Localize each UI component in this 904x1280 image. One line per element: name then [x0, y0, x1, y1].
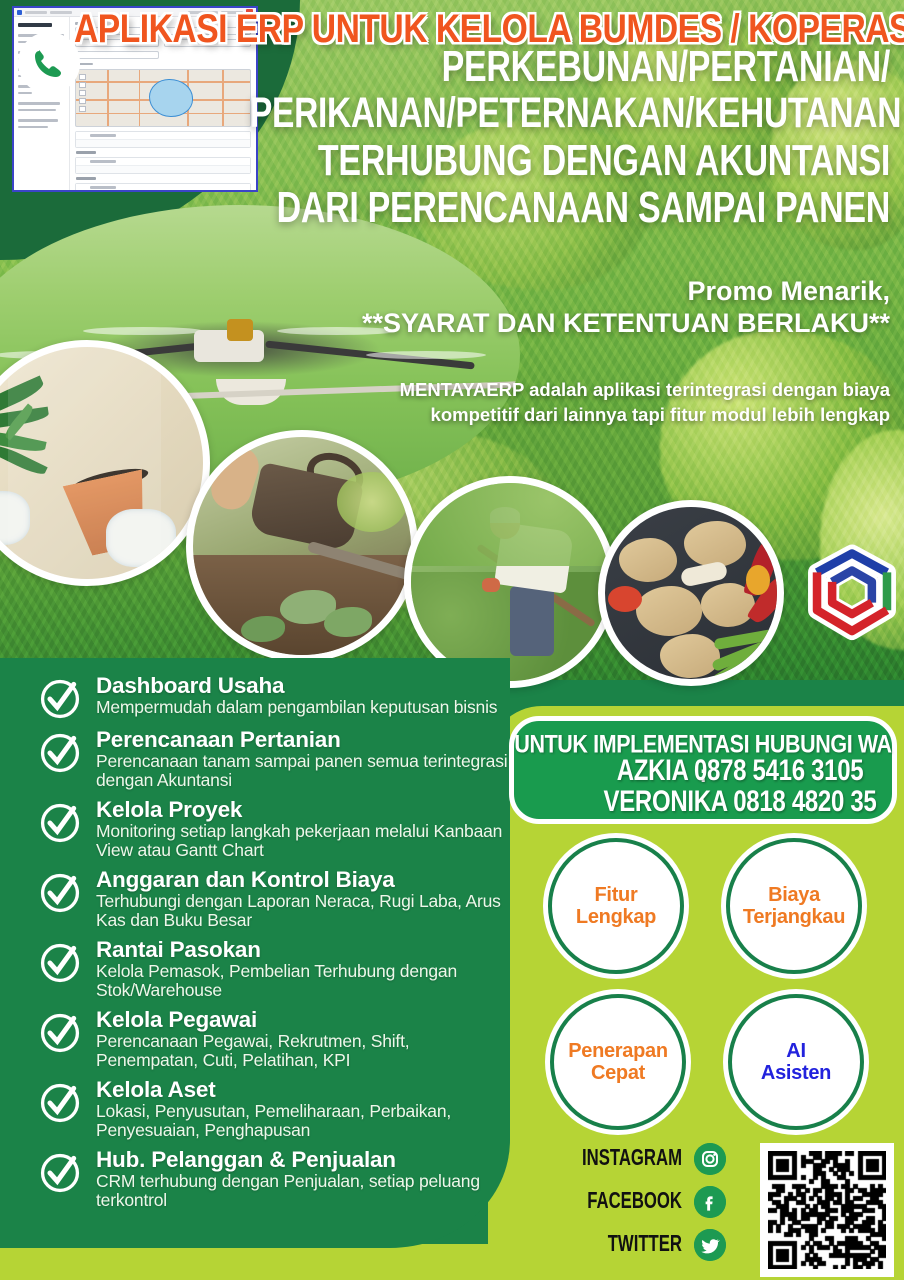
check-circle-icon: [38, 677, 82, 721]
social-label: FACEBOOK: [575, 1189, 682, 1216]
feature-desc: Terhubungi dengan Laporan Neraca, Rugi L…: [96, 892, 508, 932]
breadcrumb: [50, 11, 72, 14]
badge-line-2: Terjangkau: [743, 906, 845, 928]
badge-line-2: Cepat: [591, 1062, 645, 1084]
feature-title: Hub. Pelanggan & Penjualan: [96, 1147, 396, 1172]
check-circle-icon: [38, 871, 82, 915]
feature-title: Dashboard Usaha: [96, 673, 284, 698]
map-polygon: [149, 79, 193, 117]
badge-biaya-terjangkau[interactable]: Biaya Terjangkau: [726, 838, 862, 974]
check-circle-icon: [38, 1151, 82, 1195]
headline-line-3: TERHUBUNG DENGAN AKUNTANSI: [250, 139, 890, 183]
feature-desc: Kelola Pemasok, Pembelian Terhubung deng…: [96, 962, 508, 1002]
facebook-icon[interactable]: [694, 1186, 726, 1218]
list-item: Hub. Pelanggan & Penjualan CRM terhubung…: [38, 1146, 508, 1212]
contact-veronika[interactable]: VERONIKA 0818 4820 35: [602, 788, 878, 818]
photo-watering-can: [186, 430, 418, 662]
map-controls[interactable]: [79, 74, 86, 114]
social-label: INSTAGRAM: [575, 1146, 682, 1173]
phone-icon: [18, 32, 80, 94]
feature-desc: Monitoring setiap langkah pekerjaan mela…: [96, 822, 508, 862]
list-item: Perencanaan Pertanian Perencanaan tanam …: [38, 726, 508, 792]
contact-numbers: AZKIA 0878 5416 3105 VERONIKA 0818 4820 …: [602, 757, 878, 819]
check-circle-icon: [38, 941, 82, 985]
list-item: Kelola Aset Lokasi, Penyusutan, Pemeliha…: [38, 1076, 508, 1142]
feature-title: Perencanaan Pertanian: [96, 727, 341, 752]
promo-line-1: Promo Menarik,: [250, 276, 890, 308]
poster-root: APLIKASI ERP UNTUK KELOLA BUMDES / KOPER…: [0, 0, 904, 1280]
twitter-icon[interactable]: [694, 1229, 726, 1261]
headline-line-4: DARI PERENCANAAN SAMPAI PANEN: [250, 186, 890, 230]
social-row-instagram[interactable]: INSTAGRAM: [560, 1140, 750, 1178]
list-item: Kelola Pegawai Perencanaan Pegawai, Rekr…: [38, 1006, 508, 1072]
badge-line-2: Asisten: [761, 1062, 831, 1084]
badge-line-2: Lengkap: [576, 906, 656, 928]
list-item: Dashboard Usaha Mempermudah dalam pengam…: [38, 672, 508, 721]
badge-penerapan-cepat[interactable]: Penerapan Cepat: [550, 994, 686, 1130]
photo-farmer-hoeing: [404, 476, 616, 688]
feature-title: Anggaran dan Kontrol Biaya: [96, 867, 395, 892]
feature-title: Rantai Pasokan: [96, 937, 261, 962]
contact-azkia[interactable]: AZKIA 0878 5416 3105: [602, 757, 878, 787]
breadcrumb: [25, 11, 47, 14]
feature-title: Kelola Aset: [96, 1077, 216, 1102]
list-item: Rantai Pasokan Kelola Pemasok, Pembelian…: [38, 936, 508, 1002]
headline-line-1: PERKEBUNAN/PERTANIAN/: [250, 45, 890, 89]
feature-desc: Mempermudah dalam pengambilan keputusan …: [96, 698, 508, 718]
social-row-facebook[interactable]: FACEBOOK: [560, 1183, 750, 1221]
feature-desc: CRM terhubung dengan Penjualan, setiap p…: [96, 1172, 508, 1212]
feature-title: Kelola Pegawai: [96, 1007, 257, 1032]
product-blurb: MENTAYAERP adalah aplikasi terintegrasi …: [330, 378, 890, 427]
badge-line-1: Biaya: [768, 884, 820, 906]
headline-white: PERKEBUNAN/PERTANIAN/ PERIKANAN/PETERNAK…: [250, 50, 890, 238]
app-logo-icon: [17, 10, 22, 15]
check-circle-icon: [38, 731, 82, 775]
mentayaerp-hexagon-logo: [800, 540, 904, 654]
badge-line-1: AI: [786, 1040, 805, 1062]
photo-vegetables: [598, 500, 784, 686]
badge-fitur-lengkap[interactable]: Fitur Lengkap: [548, 838, 684, 974]
badge-line-1: Fitur: [595, 884, 638, 906]
map-widget[interactable]: [75, 69, 251, 127]
badge-line-1: Penerapan: [568, 1040, 668, 1062]
feature-desc: Perencanaan Pegawai, Rekrutmen, Shift, P…: [96, 1032, 508, 1072]
badge-ai-asisten[interactable]: AI Asisten: [728, 994, 864, 1130]
list-item: Anggaran dan Kontrol Biaya Terhubungi de…: [38, 866, 508, 932]
social-links: INSTAGRAM FACEBOOK TWITTER: [560, 1140, 750, 1269]
instagram-icon[interactable]: [694, 1143, 726, 1175]
feature-desc: Lokasi, Penyusutan, Pemeliharaan, Perbai…: [96, 1102, 508, 1142]
feature-desc: Perencanaan tanam sampai panen semua ter…: [96, 752, 508, 792]
check-circle-icon: [38, 801, 82, 845]
list-item: Kelola Proyek Monitoring setiap langkah …: [38, 796, 508, 862]
social-row-twitter[interactable]: TWITTER: [560, 1226, 750, 1264]
feature-list: Dashboard Usaha Mempermudah dalam pengam…: [38, 672, 508, 1216]
social-label: TWITTER: [575, 1232, 682, 1259]
feature-title: Kelola Proyek: [96, 797, 242, 822]
check-circle-icon: [38, 1011, 82, 1055]
check-circle-icon: [38, 1081, 82, 1125]
promo-line-2: **SYARAT DAN KETENTUAN BERLAKU**: [250, 308, 890, 340]
promo-text: Promo Menarik, **SYARAT DAN KETENTUAN BE…: [250, 276, 890, 340]
qr-code[interactable]: [760, 1143, 894, 1277]
contact-box[interactable]: UNTUK IMPLEMENTASI HUBUNGI WA : AZKIA 08…: [509, 716, 897, 824]
headline-line-2: PERIKANAN/PETERNAKAN/KEHUTANAN: [250, 92, 890, 135]
